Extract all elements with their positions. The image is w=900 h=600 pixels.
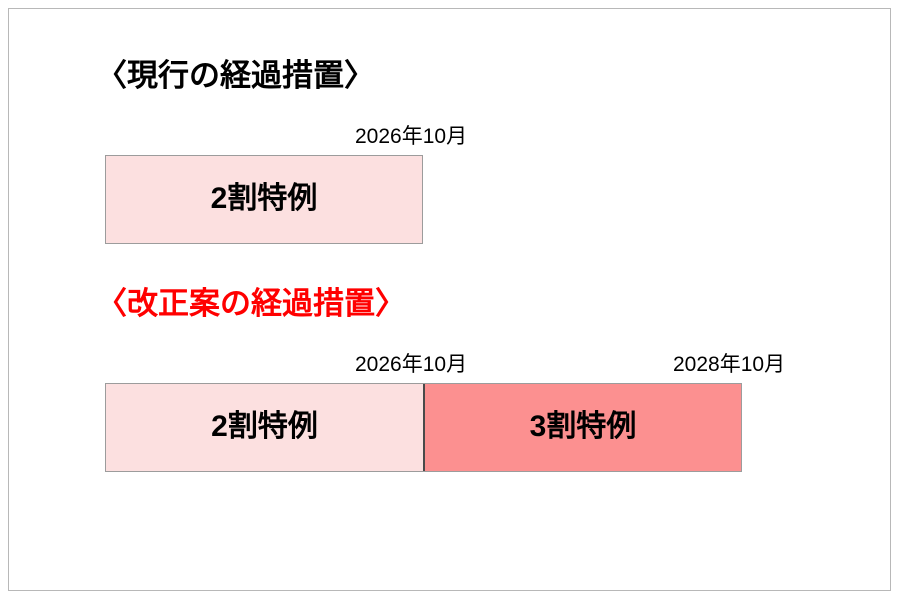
date-label-revised-second: 2028年10月 <box>673 354 785 375</box>
heading-revised-measure: 〈改正案の経過措置〉 <box>96 288 406 319</box>
bar-revised-row: 2割特例 3割特例 <box>105 383 742 472</box>
bar-segment-revised-2wari: 2割特例 <box>106 384 425 471</box>
date-label-revised-first: 2026年10月 <box>355 354 467 375</box>
bar-label-revised-3wari: 3割特例 <box>530 412 637 442</box>
heading-current-measure: 〈現行の経過措置〉 <box>96 60 375 91</box>
bar-label-current-2wari: 2割特例 <box>211 184 318 214</box>
date-label-current-end: 2026年10月 <box>355 126 467 147</box>
bar-current-2wari: 2割特例 <box>105 155 423 244</box>
bar-label-revised-2wari: 2割特例 <box>211 412 318 442</box>
bar-segment-revised-3wari: 3割特例 <box>425 384 741 471</box>
slide-canvas: 〈現行の経過措置〉 2026年10月 2割特例 〈改正案の経過措置〉 2026年… <box>0 0 900 600</box>
